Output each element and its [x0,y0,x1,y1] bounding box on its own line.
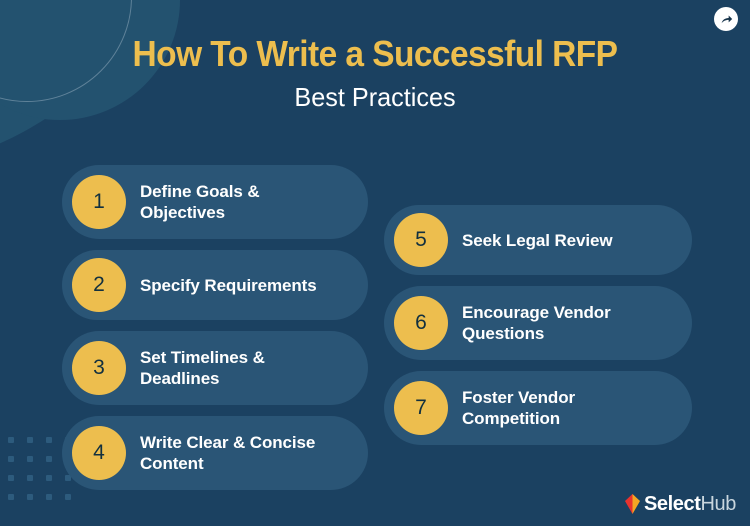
step-label: Define Goals & Objectives [140,181,260,223]
step-number-badge: 4 [72,426,126,480]
step-card-4[interactable]: 4 Write Clear & Concise Content [62,416,368,490]
steps-column-left: 1 Define Goals & Objectives 2 Specify Re… [62,165,368,490]
step-number-badge: 1 [72,175,126,229]
step-card-7[interactable]: 7 Foster Vendor Competition [384,371,692,445]
step-card-1[interactable]: 1 Define Goals & Objectives [62,165,368,239]
step-label: Specify Requirements [140,275,317,296]
header-block: How To Write a Successful RFP Best Pract… [0,32,750,114]
infographic-canvas: How To Write a Successful RFP Best Pract… [0,0,750,526]
share-button[interactable] [714,7,738,31]
selecthub-diamond-logo-icon [625,494,640,514]
selecthub-logo[interactable]: SelectHub [625,494,736,514]
step-number-badge: 5 [394,213,448,267]
logo-name-secondary: Hub [701,493,737,515]
step-number-badge: 7 [394,381,448,435]
logo-name-primary: Select [644,493,701,515]
steps-column-right: 5 Seek Legal Review 6 Encourage Vendor Q… [384,205,692,445]
step-card-6[interactable]: 6 Encourage Vendor Questions [384,286,692,360]
step-number-badge: 6 [394,296,448,350]
step-card-5[interactable]: 5 Seek Legal Review [384,205,692,275]
step-card-3[interactable]: 3 Set Timelines & Deadlines [62,331,368,405]
step-label: Write Clear & Concise Content [140,432,315,474]
step-number-badge: 3 [72,341,126,395]
step-label: Foster Vendor Competition [462,387,575,429]
step-label: Encourage Vendor Questions [462,302,611,344]
step-number-badge: 2 [72,258,126,312]
step-card-2[interactable]: 2 Specify Requirements [62,250,368,320]
step-label: Seek Legal Review [462,230,612,251]
share-arrow-icon [720,13,733,26]
step-label: Set Timelines & Deadlines [140,347,265,389]
page-title: How To Write a Successful RFP [26,32,724,76]
page-subtitle: Best Practices [11,80,739,114]
